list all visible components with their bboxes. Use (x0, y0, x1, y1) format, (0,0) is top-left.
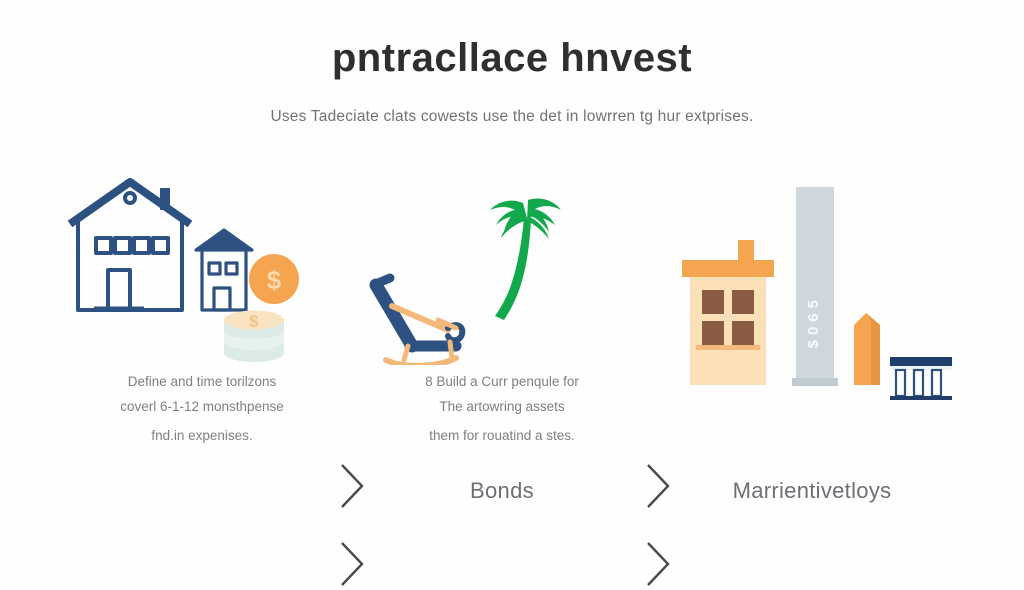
column-1-artwork: $ $ (52, 170, 352, 365)
tower-icon (792, 187, 838, 386)
small-house-icon (196, 230, 252, 310)
column-3-label: Marrientivetloys (662, 478, 962, 504)
svg-text:$: $ (267, 265, 282, 295)
apartment-icon (682, 240, 774, 385)
caption-line: Define and time torilzons (52, 375, 352, 389)
column-2-label: Bonds (352, 478, 652, 504)
obelisk-icon (854, 313, 880, 385)
caption-line: coverl 6-1-12 monsthpense (52, 400, 352, 414)
markets-illustration (662, 135, 962, 435)
caption-line: The artowring assets (352, 400, 652, 414)
dollar-coin-icon: $ (249, 254, 299, 304)
retirement-illustration (352, 170, 652, 365)
caption-line: 8 Build a Curr penqule for (352, 375, 652, 389)
header: pntracllace hnvest Uses Tadeciate clats … (0, 34, 1024, 126)
column-1-caption: Define and time torilzons coverl 6-1-12 … (52, 375, 352, 454)
column-markets: $065 Marrientivetloys (662, 170, 962, 550)
page-title: pntracllace hnvest (0, 34, 1024, 82)
house-chimney-icon (160, 188, 170, 210)
housing-illustration: $ $ (52, 170, 352, 365)
house-icon (70, 182, 190, 310)
rocking-chair-icon (376, 278, 462, 365)
page-subtitle: Uses Tadeciate clats cowests use the det… (0, 108, 1024, 126)
column-2-caption: 8 Build a Curr penqule for The artowring… (352, 375, 652, 454)
column-housing: $ $ Define and time to (52, 170, 352, 550)
tower-price-label: $065 (805, 295, 822, 348)
caption-line: them for rouatind a stes. (352, 429, 652, 443)
column-2-artwork (352, 170, 652, 365)
infographic-canvas: pntracllace hnvest Uses Tadeciate clats … (0, 0, 1024, 585)
coin-stack-icon: $ (224, 311, 284, 363)
column-3-artwork: $065 (662, 170, 962, 365)
svg-text:$: $ (249, 312, 259, 331)
columns-container: $ $ Define and time to (0, 170, 1024, 550)
palm-tree-icon (490, 198, 561, 320)
caption-line: fnd.in expenises. (52, 429, 352, 443)
column-retirement: 8 Build a Curr penqule for The artowring… (352, 170, 652, 550)
bank-icon (890, 357, 952, 400)
